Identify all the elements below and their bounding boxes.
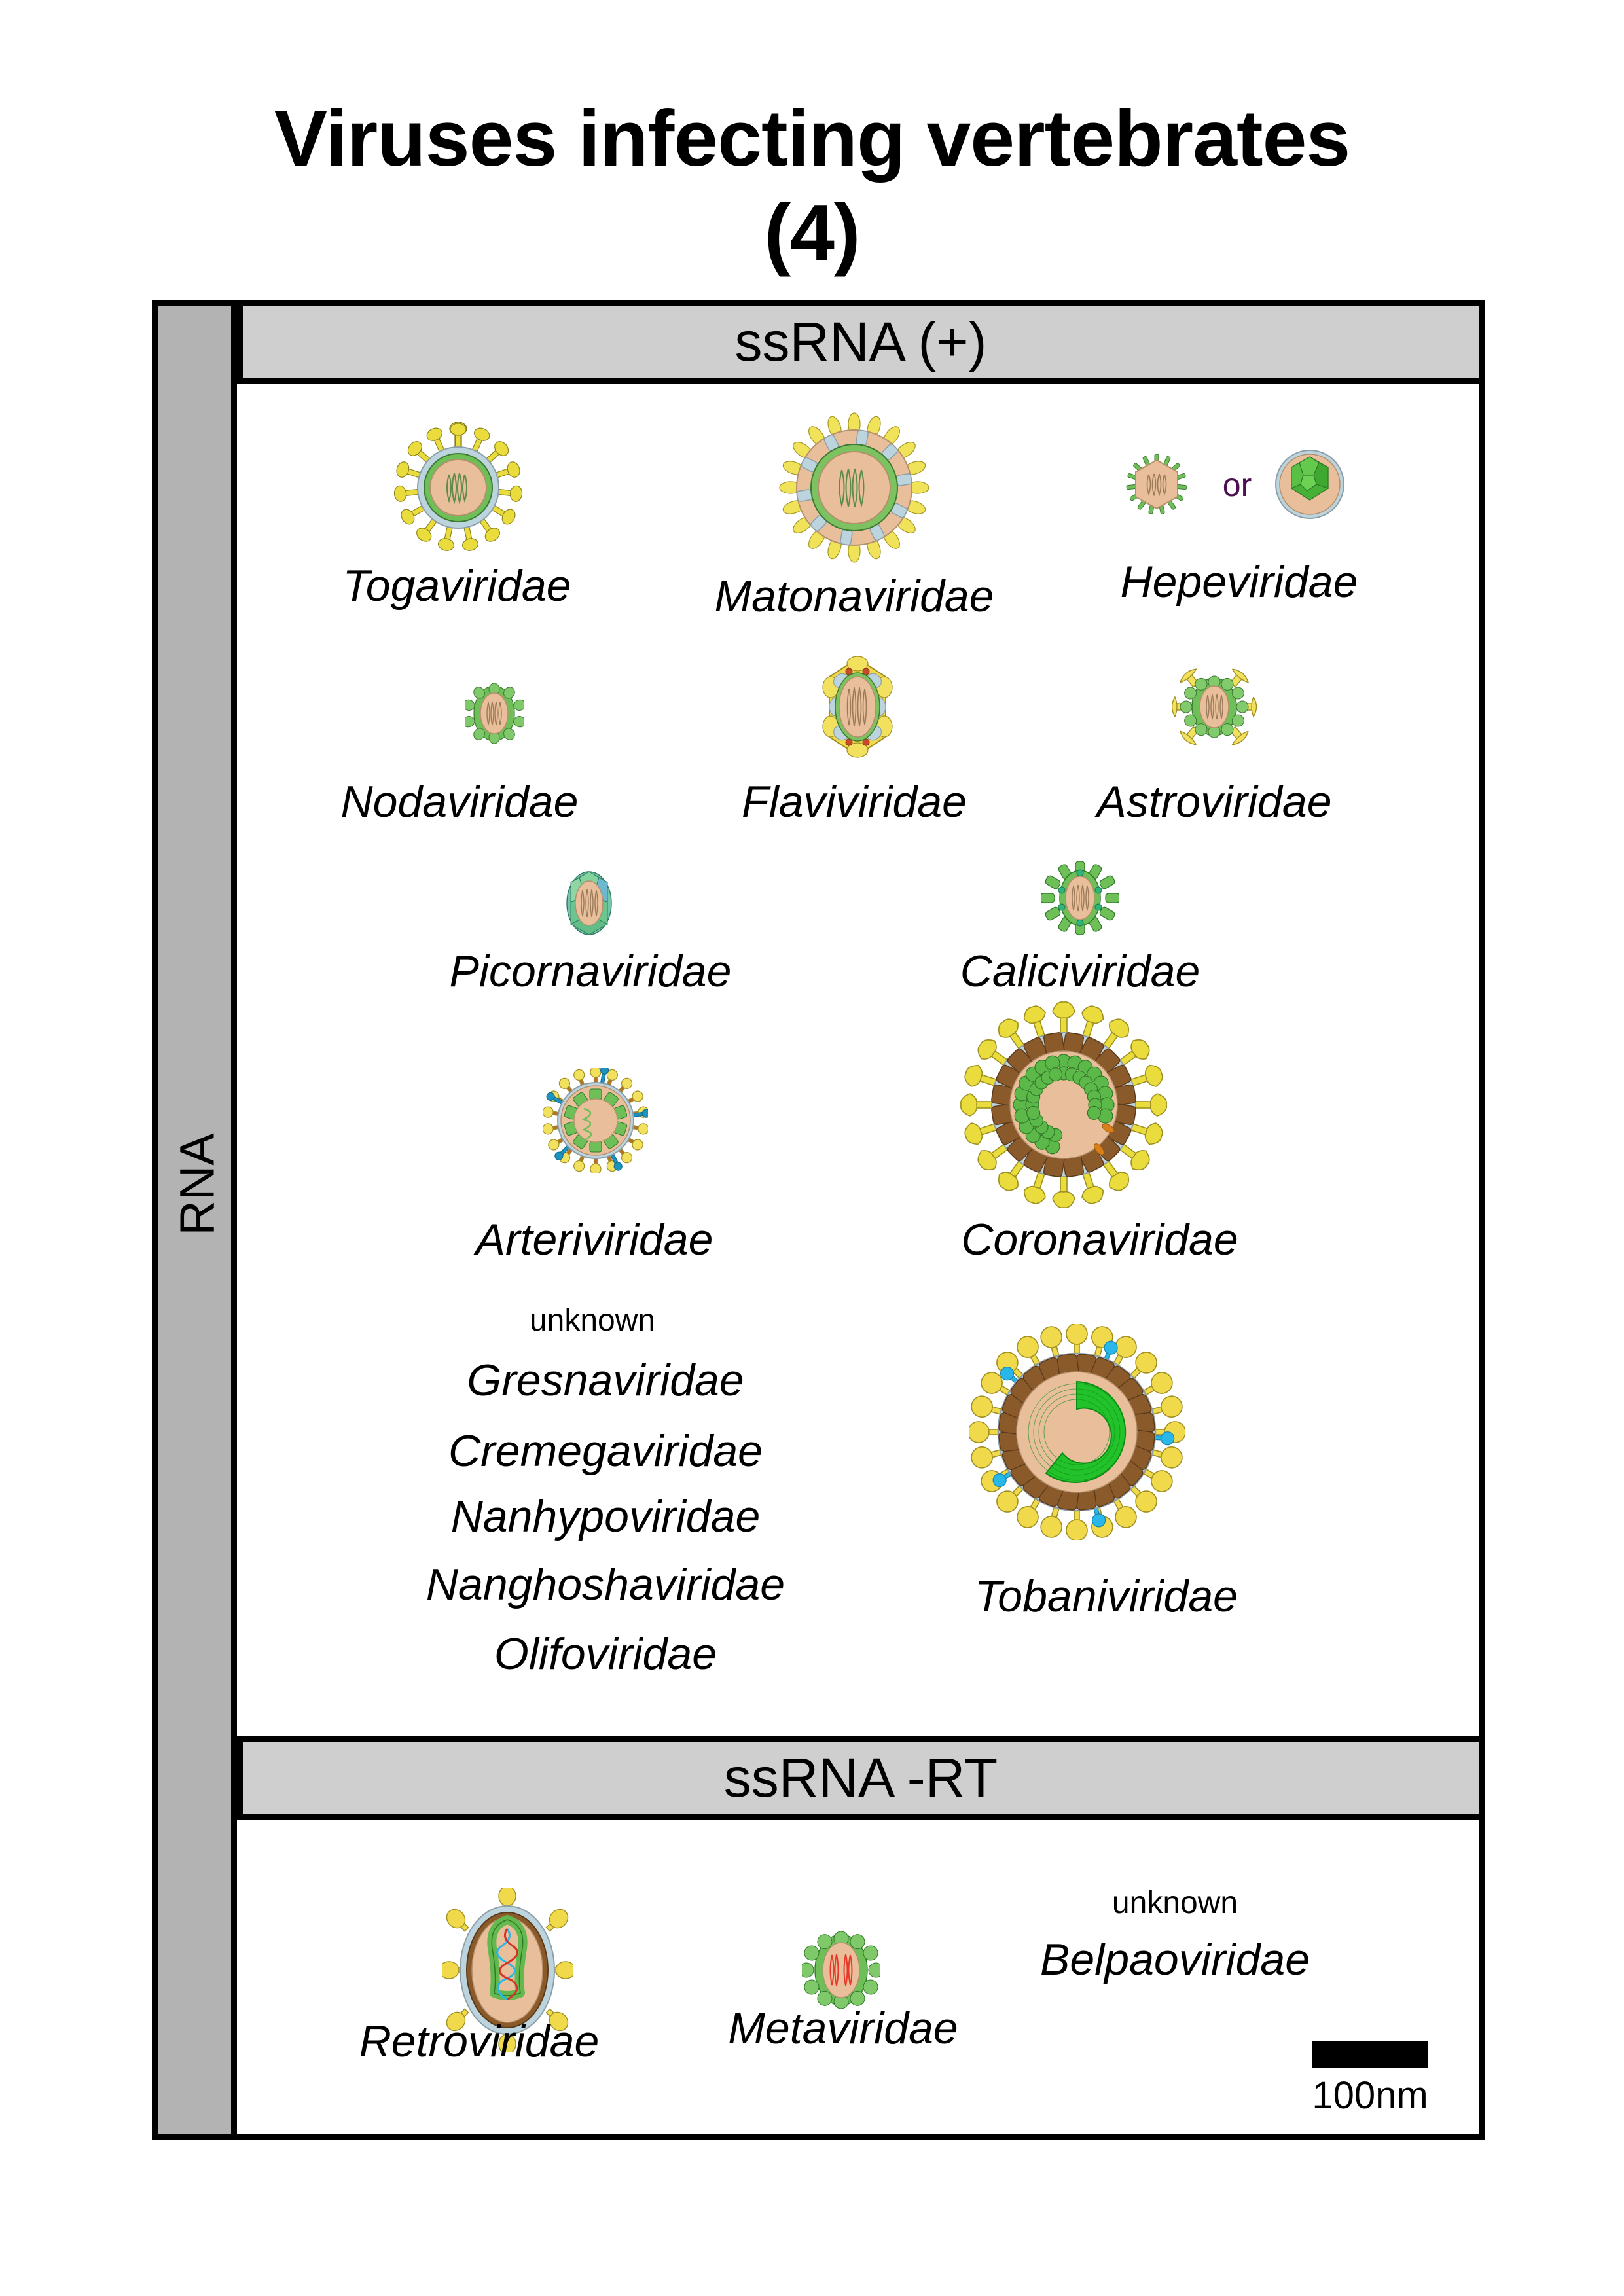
title-line-2: (4) xyxy=(0,186,1624,280)
section-header-label: ssRNA -RT xyxy=(724,1746,998,1810)
label-tobaniviridae: Tobaniviridae xyxy=(975,1571,1238,1622)
nodaviridae-icon xyxy=(465,677,524,749)
scale-bar xyxy=(1312,2041,1428,2068)
hepeviridae-or-label: or xyxy=(1223,466,1252,504)
label-cremegaviridae: Cremegaviridae xyxy=(448,1426,763,1477)
label-nanghoshaviridae: Nanghoshaviridae xyxy=(426,1559,785,1610)
label-astroviridae: Astroviridae xyxy=(1096,776,1331,827)
scale-bar-label: 100nm xyxy=(1312,2073,1428,2117)
section-header-ssrna-plus: ssRNA (+) xyxy=(237,300,1485,384)
label-gresnaviridae: Gresnaviridae xyxy=(467,1355,744,1406)
label-belpaoviridae: Belpaoviridae xyxy=(1040,1934,1310,1985)
label-retroviridae: Retroviridae xyxy=(359,2016,600,2067)
label-coronaviridae: Coronaviridae xyxy=(961,1214,1238,1265)
rna-sidebar-label: RNA xyxy=(170,1041,225,1329)
label-hepeviridae: Hepeviridae xyxy=(1121,556,1358,607)
title-line-1: Viruses infecting vertebrates xyxy=(0,92,1624,186)
label-caliciviridae: Caliciviridae xyxy=(960,946,1200,997)
tobaniviridae-icon xyxy=(969,1324,1185,1540)
unknown-heading-rt: unknown xyxy=(1112,1885,1238,1921)
label-arteriviridae: Arteriviridae xyxy=(476,1214,713,1265)
label-picornaviridae: Picornaviridae xyxy=(450,946,732,997)
section-header-ssrna-rt: ssRNA -RT xyxy=(237,1736,1485,1820)
unknown-heading: unknown xyxy=(530,1302,655,1338)
rna-sidebar: RNA xyxy=(152,300,237,2140)
hepeviridae-icon-naked xyxy=(1121,448,1193,520)
picornaviridae-icon xyxy=(553,861,625,946)
astroviridae-icon xyxy=(1172,661,1257,753)
label-matonaviridae: Matonaviridae xyxy=(714,571,994,622)
arteriviridae-icon xyxy=(543,1068,648,1173)
label-nodaviridae: Nodaviridae xyxy=(341,776,579,827)
label-togaviridae: Togaviridae xyxy=(342,560,571,611)
hepeviridae-icon-enveloped xyxy=(1271,445,1349,524)
caliciviridae-icon xyxy=(1041,852,1119,944)
togaviridae-icon xyxy=(393,422,524,553)
section-header-label: ssRNA (+) xyxy=(734,310,986,374)
label-nanhypoviridae: Nanhypoviridae xyxy=(451,1491,761,1542)
page-title: Viruses infecting vertebrates (4) xyxy=(0,92,1624,280)
flaviviridae-icon xyxy=(815,655,900,759)
label-metaviridae: Metaviridae xyxy=(728,2003,958,2054)
matonaviridae-icon xyxy=(779,412,929,563)
label-flaviviridae: Flaviviridae xyxy=(742,776,967,827)
coronaviridae-icon xyxy=(959,1000,1168,1210)
label-olifoviridae: Olifoviridae xyxy=(494,1628,717,1679)
